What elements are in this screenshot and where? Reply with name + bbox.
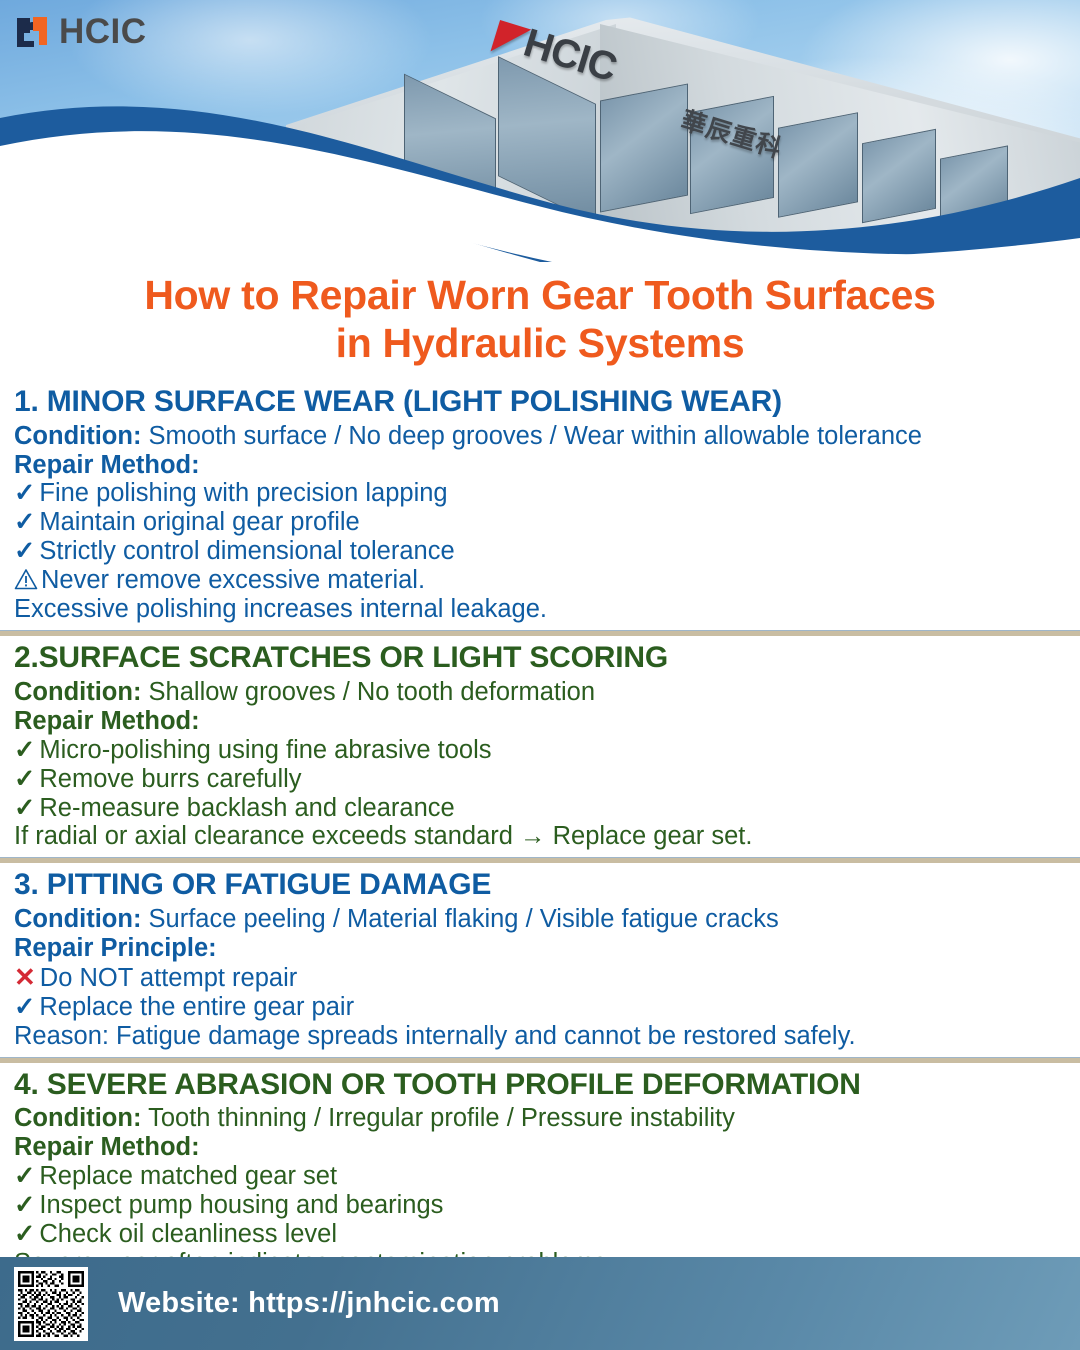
check-icon: ✓ bbox=[14, 479, 35, 508]
building-window bbox=[778, 112, 858, 218]
building-window bbox=[600, 83, 688, 212]
bullet-item: ✓Replace matched gear set bbox=[14, 1162, 1068, 1191]
check-icon: ✓ bbox=[14, 1162, 35, 1191]
bullet-item: ✓Maintain original gear profile bbox=[14, 508, 1068, 537]
hcic-logo: HCIC bbox=[14, 14, 147, 49]
bullet-text: Re-measure backlash and clearance bbox=[39, 794, 454, 822]
section-note: If radial or axial clearance exceeds sta… bbox=[14, 822, 1068, 851]
section-2: 2.SURFACE SCRATCHES OR LIGHT SCORINGCond… bbox=[0, 641, 1080, 851]
section-heading: 1. MINOR SURFACE WEAR (LIGHT POLISHING W… bbox=[14, 385, 1068, 419]
bullet-text: Maintain original gear profile bbox=[39, 508, 359, 536]
condition-label: Condition: bbox=[14, 1104, 141, 1132]
bullet-item: ✓Inspect pump housing and bearings bbox=[14, 1191, 1068, 1220]
website-url[interactable]: Website: https://jnhcic.com bbox=[118, 1287, 500, 1320]
check-icon: ✓ bbox=[14, 537, 35, 566]
bullet-item: ✓Re-measure backlash and clearance bbox=[14, 794, 1068, 823]
bullet-text: Replace matched gear set bbox=[39, 1162, 337, 1190]
condition-value: Shallow grooves / No tooth deformation bbox=[141, 678, 595, 706]
page-title-line2: in Hydraulic Systems bbox=[38, 320, 1042, 368]
qr-code-image bbox=[18, 1271, 84, 1337]
footer-bar: Website: https://jnhcic.com bbox=[0, 1257, 1080, 1350]
section-heading: 4. SEVERE ABRASION OR TOOTH PROFILE DEFO… bbox=[14, 1068, 1068, 1102]
building-window bbox=[862, 129, 936, 223]
check-icon: ✓ bbox=[14, 794, 35, 823]
bullet-text: Never remove excessive material. bbox=[41, 566, 425, 594]
bullet-text: Check oil cleanliness level bbox=[39, 1220, 337, 1248]
condition-value: Surface peeling / Material flaking / Vis… bbox=[141, 905, 778, 933]
condition-label: Condition: bbox=[14, 422, 141, 450]
sections-list: 1. MINOR SURFACE WEAR (LIGHT POLISHING W… bbox=[0, 385, 1080, 1278]
section-condition: Condition: Surface peeling / Material fl… bbox=[14, 905, 1068, 934]
section-1: 1. MINOR SURFACE WEAR (LIGHT POLISHING W… bbox=[0, 385, 1080, 624]
bullet-item: ✓Micro-polishing using fine abrasive too… bbox=[14, 736, 1068, 765]
section-3: 3. PITTING OR FATIGUE DAMAGECondition: S… bbox=[0, 868, 1080, 1050]
bullet-item: ✓Fine polishing with precision lapping bbox=[14, 479, 1068, 508]
bullet-text: Fine polishing with precision lapping bbox=[39, 479, 447, 507]
check-icon: ✓ bbox=[14, 508, 35, 537]
section-heading: 3. PITTING OR FATIGUE DAMAGE bbox=[14, 868, 1068, 902]
hcic-logo-text: HCIC bbox=[59, 14, 147, 49]
section-divider bbox=[0, 1057, 1080, 1063]
factory-building-photo: ◤HCIC 華辰重科 bbox=[0, 0, 1080, 262]
section-condition: Condition: Shallow grooves / No tooth de… bbox=[14, 678, 1068, 707]
bullet-item: ✕Do NOT attempt repair bbox=[14, 963, 1068, 993]
condition-value: Smooth surface / No deep grooves / Wear … bbox=[141, 422, 922, 450]
bullet-item: ✓Strictly control dimensional tolerance bbox=[14, 537, 1068, 566]
header-banner: ◤HCIC 華辰重科 HCIC bbox=[0, 0, 1080, 262]
qr-code[interactable] bbox=[14, 1267, 88, 1341]
building-window bbox=[940, 145, 1008, 226]
check-icon: ✓ bbox=[14, 1191, 35, 1220]
condition-label: Condition: bbox=[14, 905, 141, 933]
bullet-text: Inspect pump housing and bearings bbox=[39, 1191, 443, 1219]
bullet-text: Do NOT attempt repair bbox=[40, 964, 297, 992]
bullet-item: ✓Remove burrs carefully bbox=[14, 765, 1068, 794]
check-icon: ✓ bbox=[14, 736, 35, 765]
page-title-line1: How to Repair Worn Gear Tooth Surfaces bbox=[38, 272, 1042, 320]
cross-icon: ✕ bbox=[14, 963, 36, 993]
section-divider bbox=[0, 857, 1080, 863]
method-label: Repair Method: bbox=[14, 1133, 1068, 1162]
bullet-text: Micro-polishing using fine abrasive tool… bbox=[39, 736, 491, 764]
bullet-text: Replace the entire gear pair bbox=[39, 993, 354, 1021]
page-title: How to Repair Worn Gear Tooth Surfaces i… bbox=[0, 272, 1080, 368]
warning-icon bbox=[14, 568, 38, 590]
check-icon: ✓ bbox=[14, 1220, 35, 1249]
method-label: Repair Method: bbox=[14, 707, 1068, 736]
check-icon: ✓ bbox=[14, 765, 35, 794]
section-4: 4. SEVERE ABRASION OR TOOTH PROFILE DEFO… bbox=[0, 1068, 1080, 1278]
section-divider bbox=[0, 630, 1080, 636]
section-condition: Condition: Tooth thinning / Irregular pr… bbox=[14, 1104, 1068, 1133]
method-label: Repair Method: bbox=[14, 451, 1068, 480]
section-condition: Condition: Smooth surface / No deep groo… bbox=[14, 422, 1068, 451]
section-heading: 2.SURFACE SCRATCHES OR LIGHT SCORING bbox=[14, 641, 1068, 675]
section-note: Excessive polishing increases internal l… bbox=[14, 595, 1068, 624]
bullet-text: Remove burrs carefully bbox=[39, 765, 301, 793]
section-note: Reason: Fatigue damage spreads internall… bbox=[14, 1022, 1068, 1051]
check-icon: ✓ bbox=[14, 993, 35, 1022]
bullet-item: Never remove excessive material. bbox=[14, 566, 1068, 595]
condition-value: Tooth thinning / Irregular profile / Pre… bbox=[141, 1104, 734, 1132]
bullet-item: ✓Replace the entire gear pair bbox=[14, 993, 1068, 1022]
method-label: Repair Principle: bbox=[14, 934, 1068, 963]
bullet-text: Strictly control dimensional tolerance bbox=[39, 537, 454, 565]
hcic-logo-icon bbox=[14, 15, 52, 49]
bullet-item: ✓Check oil cleanliness level bbox=[14, 1220, 1068, 1249]
condition-label: Condition: bbox=[14, 678, 141, 706]
